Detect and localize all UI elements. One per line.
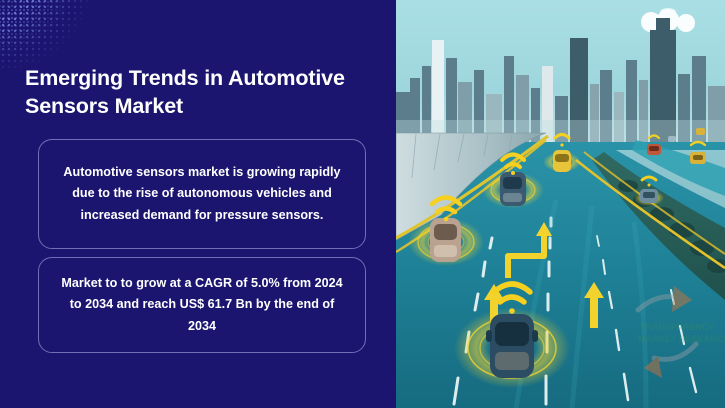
left-content-panel: Emerging Trends in Automotive Sensors Ma… xyxy=(0,0,396,408)
car-mid-center xyxy=(482,172,544,208)
car-right-far xyxy=(647,144,661,155)
info-box-cagr-forecast: Market to to grow at a CAGR of 5.0% from… xyxy=(38,257,366,353)
info-box-market-growth-text: Automotive sensors market is growing rap… xyxy=(55,162,349,227)
car-foreground xyxy=(454,308,570,388)
page-title: Emerging Trends in Automotive Sensors Ma… xyxy=(25,64,370,121)
car-mid-left xyxy=(408,218,484,266)
info-box-market-growth: Automotive sensors market is growing rap… xyxy=(38,139,366,249)
car-right-top xyxy=(690,152,706,164)
svg-text:TRANSPARENCY: TRANSPARENCY xyxy=(640,322,714,332)
info-box-cagr-forecast-text: Market to to grow at a CAGR of 5.0% from… xyxy=(55,273,349,338)
svg-text:MARKET RESEARCH: MARKET RESEARCH xyxy=(638,334,725,344)
infographic-root: Emerging Trends in Automotive Sensors Ma… xyxy=(0,0,725,408)
highway-scene-image: TRANSPARENCY MARKET RESEARCH xyxy=(396,0,725,408)
